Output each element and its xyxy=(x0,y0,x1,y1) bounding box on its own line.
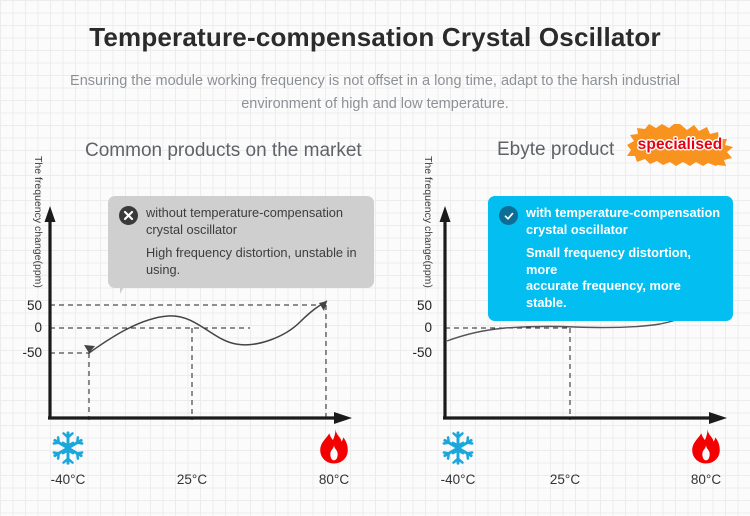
x-tick-hot-left: 80°C xyxy=(299,472,369,487)
y-tick-0-right: 0 xyxy=(398,320,432,335)
check-icon xyxy=(499,206,518,225)
callout-gray-line4: using. xyxy=(146,262,362,279)
y-tick-neg50-left: -50 xyxy=(8,345,42,360)
y-tick-50-right: 50 xyxy=(398,298,432,313)
y-tick-neg50-right: -50 xyxy=(398,345,432,360)
panel-heading-ebyte: Ebyte product xyxy=(497,139,614,161)
flame-icon-right xyxy=(690,428,722,464)
x-tick-cold-right: -40°C xyxy=(423,472,493,487)
snowflake-icon-left xyxy=(50,430,86,466)
infographic-page: Temperature-compensation Crystal Oscilla… xyxy=(0,0,750,516)
callout-ebyte-product: with temperature-compensation crystal os… xyxy=(488,196,733,321)
callout-blue-line1: with temperature-compensation xyxy=(526,205,721,222)
x-tick-hot-right: 80°C xyxy=(671,472,741,487)
panel-heading-common: Common products on the market xyxy=(85,140,362,162)
callout-blue-line2: crystal oscillator xyxy=(526,222,721,239)
x-icon xyxy=(119,206,138,225)
y-tick-50-left: 50 xyxy=(8,298,42,313)
y-axis-label-right: The frequency change(ppm) xyxy=(422,156,434,288)
y-tick-0-left: 0 xyxy=(8,320,42,335)
specialised-badge-label: specialised xyxy=(626,123,734,167)
snowflake-icon-right xyxy=(440,430,476,466)
x-tick-mid-right: 25°C xyxy=(530,472,600,487)
specialised-badge: specialised xyxy=(626,123,734,167)
flame-icon-left xyxy=(318,428,350,464)
x-tick-mid-left: 25°C xyxy=(157,472,227,487)
callout-gray-line2: crystal oscillator xyxy=(146,222,362,239)
callout-gray-line3: High frequency distortion, unstable in xyxy=(146,245,362,262)
callout-gray-line1: without temperature-compensation xyxy=(146,205,362,222)
y-axis-label-left: The frequency change(ppm) xyxy=(32,156,44,288)
callout-common-products: without temperature-compensation crystal… xyxy=(108,196,374,288)
callout-blue-line3: Small frequency distortion, more xyxy=(526,245,721,278)
callout-blue-line4: accurate frequency, more stable. xyxy=(526,278,721,311)
x-tick-cold-left: -40°C xyxy=(33,472,103,487)
